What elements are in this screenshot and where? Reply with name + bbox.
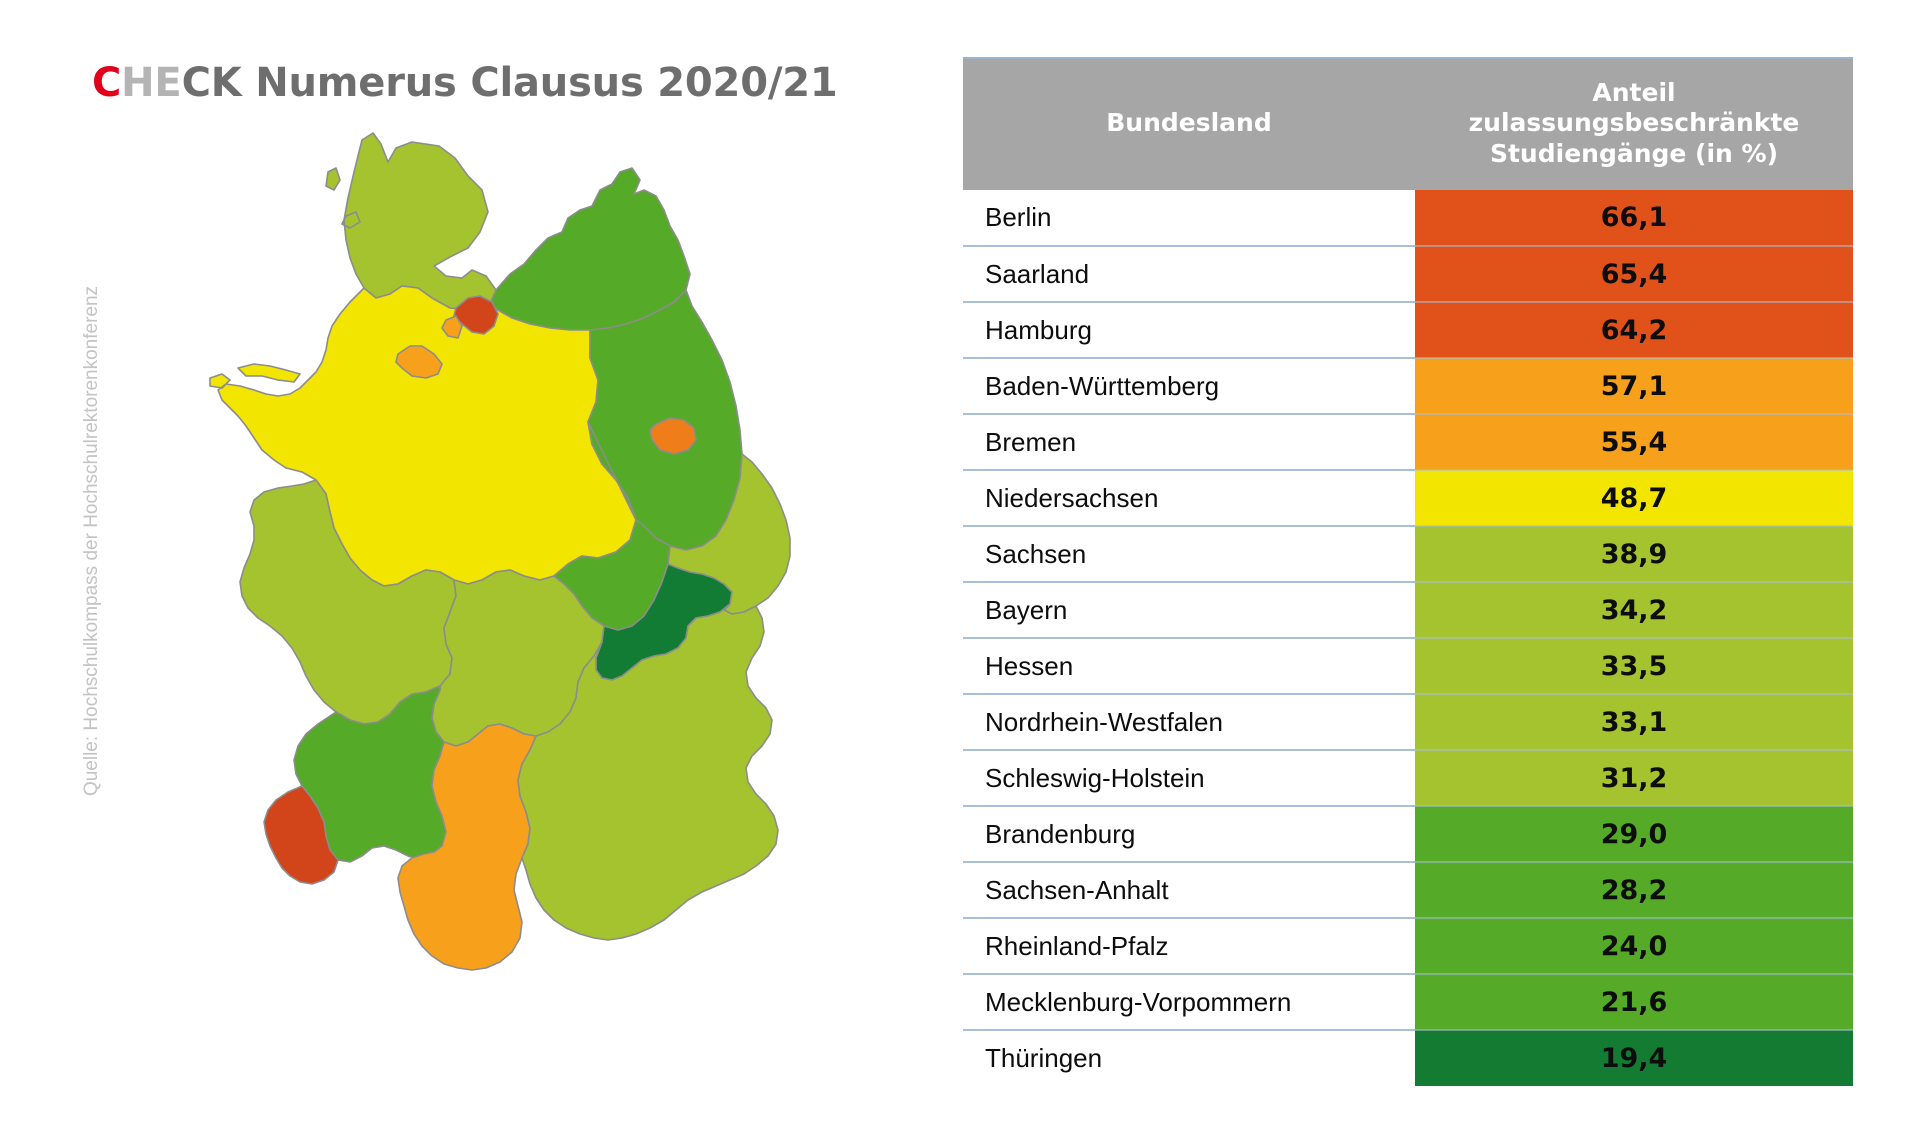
header-line-2: zulassungsbeschränkte: [1423, 108, 1845, 139]
table-row: Mecklenburg-Vorpommern21,6: [963, 974, 1853, 1030]
title-segment-he: HE: [121, 60, 181, 106]
map-region-mecklenburg-vorpommern[interactable]: [490, 168, 690, 330]
header-line-1: Anteil: [1423, 78, 1845, 109]
cell-state-name: Brandenburg: [963, 806, 1415, 862]
cell-state-name: Bayern: [963, 582, 1415, 638]
nc-share-table: Bundesland Anteil zulassungsbeschränkte …: [963, 57, 1853, 1086]
table-row: Bayern34,2: [963, 582, 1853, 638]
cell-share-value: 55,4: [1415, 414, 1853, 470]
table-row: Berlin66,1: [963, 190, 1853, 246]
cell-state-name: Bremen: [963, 414, 1415, 470]
cell-state-name: Mecklenburg-Vorpommern: [963, 974, 1415, 1030]
column-header-bundesland: Bundesland: [963, 58, 1415, 190]
cell-share-value: 34,2: [1415, 582, 1853, 638]
cell-share-value: 33,5: [1415, 638, 1853, 694]
cell-state-name: Rheinland-Pfalz: [963, 918, 1415, 974]
table-row: Bremen55,4: [963, 414, 1853, 470]
table-header: Bundesland Anteil zulassungsbeschränkte …: [963, 58, 1853, 190]
cell-share-value: 66,1: [1415, 190, 1853, 246]
cell-state-name: Niedersachsen: [963, 470, 1415, 526]
table-body: Berlin66,1Saarland65,4Hamburg64,2Baden-W…: [963, 190, 1853, 1086]
table-row: Sachsen38,9: [963, 526, 1853, 582]
table-row: Sachsen-Anhalt28,2: [963, 862, 1853, 918]
cell-share-value: 29,0: [1415, 806, 1853, 862]
column-header-anteil: Anteil zulassungsbeschränkte Studiengäng…: [1415, 58, 1853, 190]
cell-state-name: Sachsen: [963, 526, 1415, 582]
table-row: Brandenburg29,0: [963, 806, 1853, 862]
cell-share-value: 65,4: [1415, 246, 1853, 302]
table-row: Hessen33,5: [963, 638, 1853, 694]
cell-state-name: Berlin: [963, 190, 1415, 246]
cell-state-name: Sachsen-Anhalt: [963, 862, 1415, 918]
infographic-root: CHECK Numerus Clausus 2020/21 Quelle: Ho…: [0, 0, 1921, 1127]
cell-share-value: 19,4: [1415, 1030, 1853, 1086]
cell-state-name: Hamburg: [963, 302, 1415, 358]
cell-share-value: 31,2: [1415, 750, 1853, 806]
cell-state-name: Nordrhein-Westfalen: [963, 694, 1415, 750]
page-title: CHECK Numerus Clausus 2020/21: [92, 60, 838, 106]
cell-share-value: 38,9: [1415, 526, 1853, 582]
title-segment-c: C: [92, 60, 121, 106]
table-row: Nordrhein-Westfalen33,1: [963, 694, 1853, 750]
table-row: Saarland65,4: [963, 246, 1853, 302]
table-row: Baden-Württemberg57,1: [963, 358, 1853, 414]
table-row: Rheinland-Pfalz24,0: [963, 918, 1853, 974]
cell-state-name: Hessen: [963, 638, 1415, 694]
germany-choropleth-map: [150, 128, 910, 1088]
header-line-3: Studiengänge (in %): [1423, 139, 1845, 170]
cell-state-name: Baden-Württemberg: [963, 358, 1415, 414]
cell-share-value: 64,2: [1415, 302, 1853, 358]
cell-share-value: 57,1: [1415, 358, 1853, 414]
table-row: Schleswig-Holstein31,2: [963, 750, 1853, 806]
cell-share-value: 28,2: [1415, 862, 1853, 918]
cell-share-value: 24,0: [1415, 918, 1853, 974]
title-segment-rest: CK Numerus Clausus 2020/21: [182, 60, 838, 106]
cell-state-name: Thüringen: [963, 1030, 1415, 1086]
cell-share-value: 33,1: [1415, 694, 1853, 750]
table-row: Thüringen19,4: [963, 1030, 1853, 1086]
source-note: Quelle: Hochschulkompass der Hochschulre…: [81, 221, 103, 861]
cell-share-value: 48,7: [1415, 470, 1853, 526]
cell-share-value: 21,6: [1415, 974, 1853, 1030]
cell-state-name: Schleswig-Holstein: [963, 750, 1415, 806]
table-row: Niedersachsen48,7: [963, 470, 1853, 526]
map-svg: [150, 128, 910, 1088]
table-row: Hamburg64,2: [963, 302, 1853, 358]
data-table-container: Bundesland Anteil zulassungsbeschränkte …: [963, 57, 1853, 1086]
cell-state-name: Saarland: [963, 246, 1415, 302]
map-region-schleswig-holstein[interactable]: [326, 133, 496, 310]
